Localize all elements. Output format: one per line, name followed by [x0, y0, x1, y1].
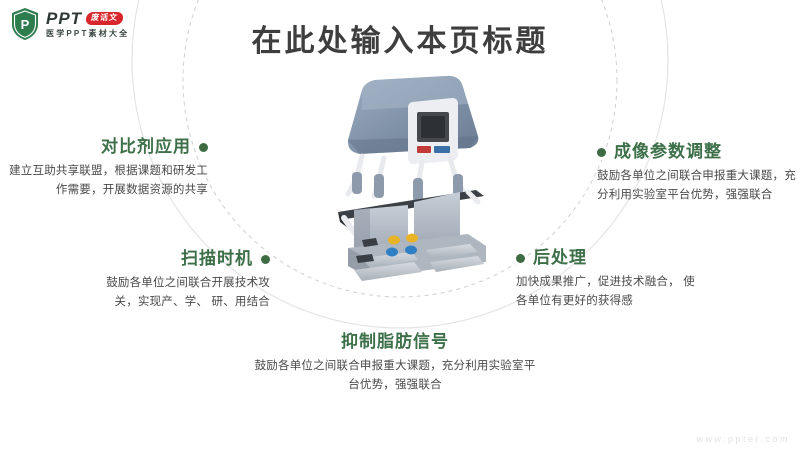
- callout-head: 扫描时机: [85, 250, 270, 269]
- console-foot-pedals: [348, 234, 486, 282]
- callout-item-1[interactable]: 扫描时机 鼓励各单位之间联合开展技术攻关，实现产、学、 研、用结合: [85, 250, 270, 312]
- pedal-blue-right: [405, 246, 417, 255]
- callout-item-4[interactable]: 成像参数调整 鼓励各单位之间联合申报重大课题，充分利用实验室平台优势，强强联合: [597, 143, 797, 205]
- callout-head: 对比剂应用: [0, 138, 208, 157]
- pedal-yellow-right: [406, 234, 418, 243]
- pedal-blue-left: [386, 248, 398, 257]
- callout-body: 鼓励各单位之间联合申报重大课题，充分利用实验室平台优势，强强联合: [597, 167, 797, 205]
- callout-body: 建立互助共享联盟，根据课题和研发工作需要，开展数据资源的共享: [0, 162, 208, 200]
- callout-head: 成像参数调整: [597, 143, 797, 162]
- callout-title: 对比剂应用: [101, 138, 191, 157]
- watermark: www.ppter.com: [696, 434, 790, 444]
- callout-title: 成像参数调整: [614, 143, 722, 162]
- callout-title: 抑制脂肪信号: [341, 333, 449, 352]
- callout-body: 加快成果推广，促进技术融合， 使各单位有更好的获得感: [516, 273, 696, 311]
- callout-item-2[interactable]: 抑制脂肪信号 鼓励各单位之间联合申报重大课题，充分利用实验室平台优势，强强联合: [250, 333, 540, 395]
- callout-item-3[interactable]: 后处理 加快成果推广，促进技术融合， 使各单位有更好的获得感: [516, 249, 696, 311]
- callout-body: 鼓励各单位之间联合申报重大课题，充分利用实验室平台优势，强强联合: [250, 357, 540, 395]
- callout-title: 扫描时机: [181, 250, 253, 269]
- callout-head: 后处理: [516, 249, 696, 268]
- callout-head: 抑制脂肪信号: [250, 333, 540, 352]
- console-support-arms: [348, 156, 464, 200]
- marker-dot-icon: [597, 148, 606, 157]
- surgical-console-illustration: [318, 62, 502, 284]
- callout-title: 后处理: [533, 249, 587, 268]
- callout-item-0[interactable]: 对比剂应用 建立互助共享联盟，根据课题和研发工作需要，开展数据资源的共享: [0, 138, 208, 200]
- pedal-yellow-left: [388, 236, 400, 245]
- page-title: 在此处输入本页标题: [0, 16, 800, 60]
- console-eyepiece: [408, 98, 458, 164]
- slide-canvas: P PPT 废话文 医学PPT素材大全 在此处输入本页标题: [0, 0, 800, 450]
- marker-dot-icon: [199, 143, 208, 152]
- marker-dot-icon: [261, 255, 270, 264]
- callout-body: 鼓励各单位之间联合开展技术攻关，实现产、学、 研、用结合: [85, 274, 270, 312]
- marker-dot-icon: [516, 254, 525, 263]
